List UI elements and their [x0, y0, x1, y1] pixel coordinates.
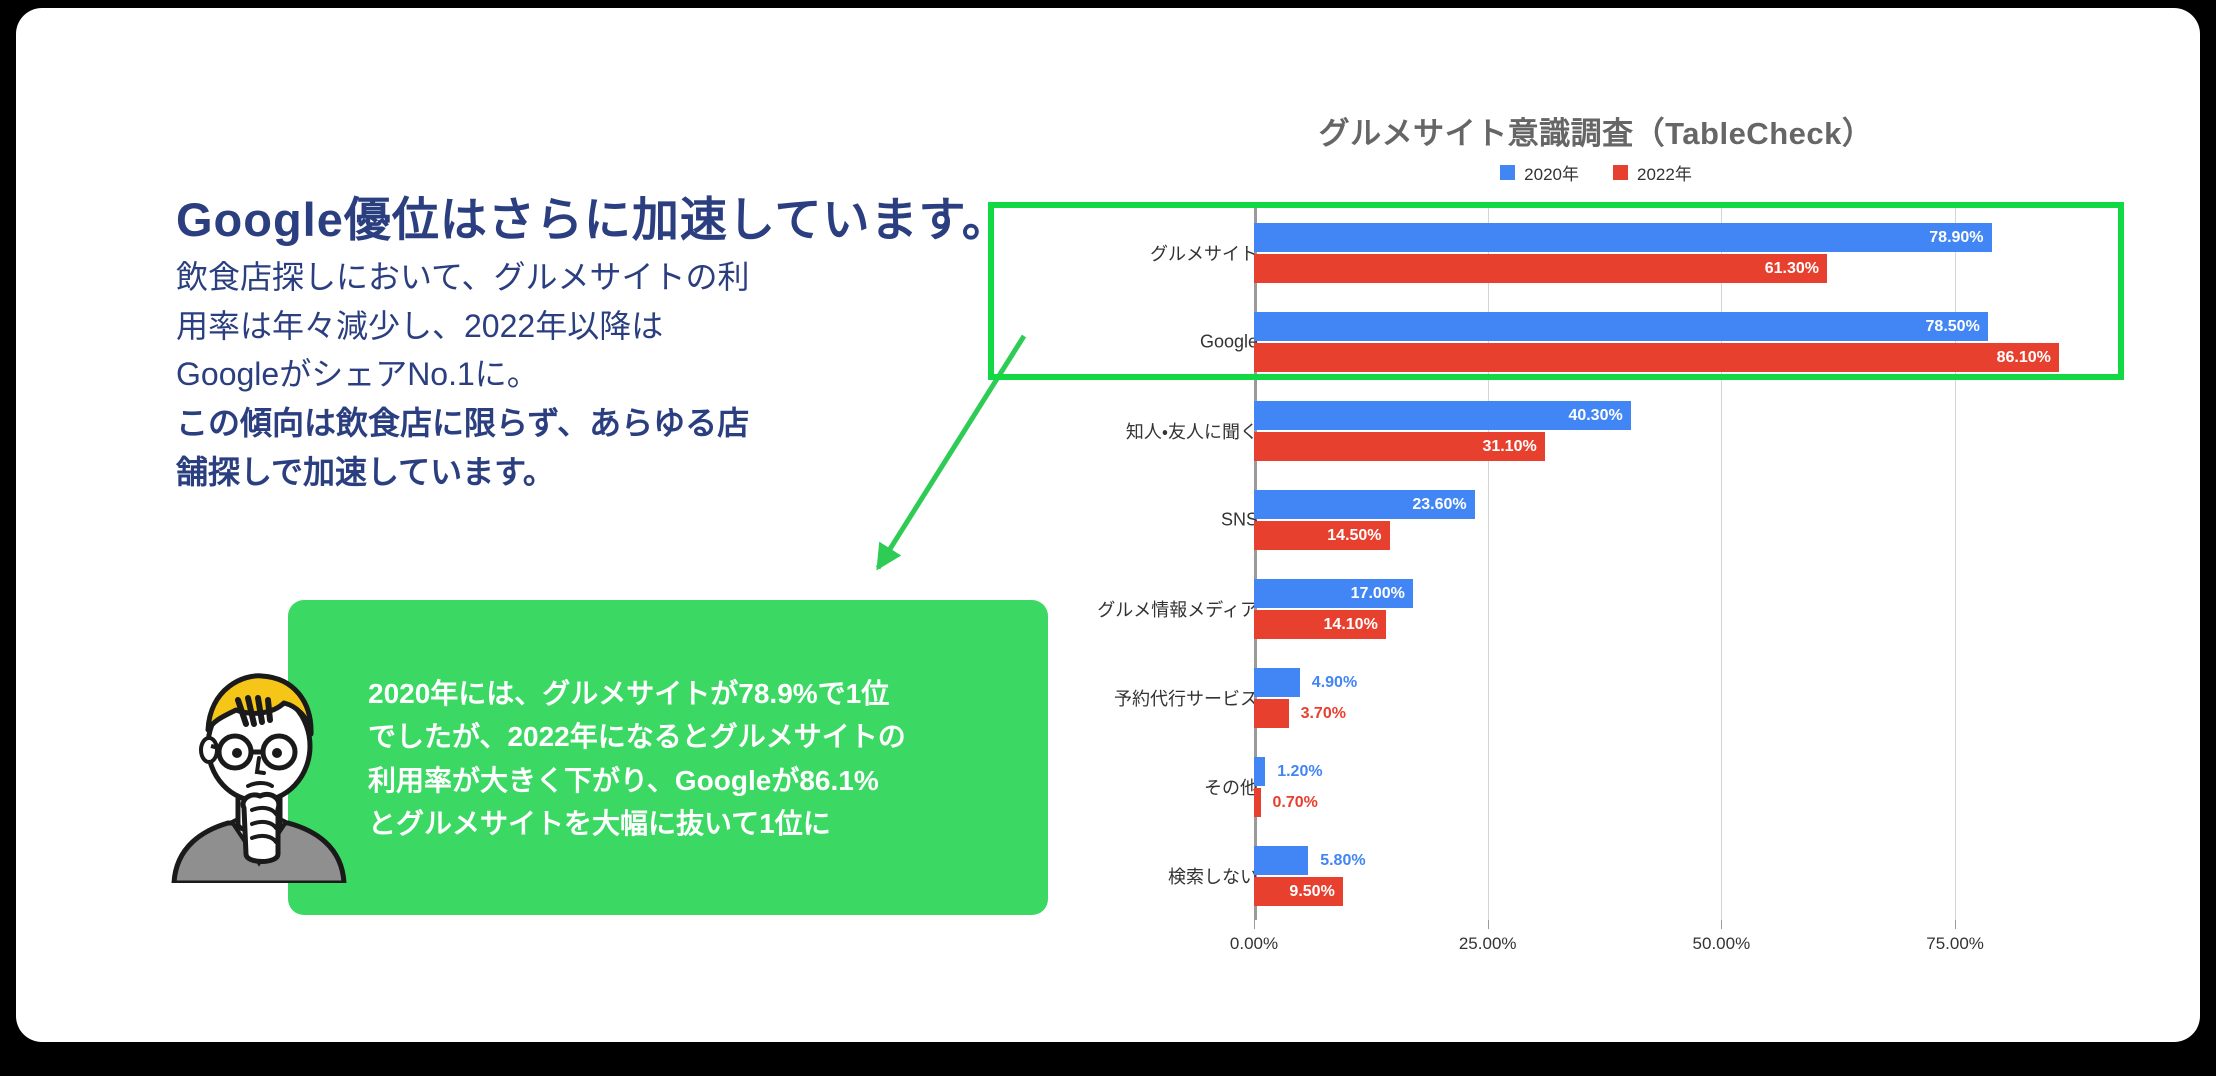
category-label: グルメ情報メディア	[1008, 596, 1258, 622]
x-tick-label: 0.00%	[1230, 934, 1278, 954]
category-label: 検索しない	[1008, 863, 1258, 889]
lead-line-1: 飲食店探しにおいて、グルメサイトの利	[176, 253, 896, 302]
lead-line-5: 舗探しで加速しています。	[176, 448, 896, 497]
legend-label-2022: 2022年	[1637, 160, 1692, 185]
bar-value-label: 31.10%	[1482, 432, 1536, 461]
legend-swatch-2020	[1500, 165, 1515, 180]
bar-value-label: 5.80%	[1320, 846, 1365, 875]
legend-item-2022[interactable]: 2022年	[1613, 160, 1692, 185]
bar-value-label: 78.90%	[1929, 223, 1983, 252]
arrow-line	[878, 336, 1024, 568]
bar-2020[interactable]	[1254, 312, 1988, 341]
slide-card: Google優位はさらに加速しています。 飲食店探しにおいて、グルメサイトの利 …	[16, 8, 2200, 1042]
bar-2020[interactable]	[1254, 668, 1300, 697]
callout-line-1: 2020年には、グルメサイトが78.9%で1位	[368, 672, 1028, 715]
category-label: グルメサイト	[1008, 240, 1258, 266]
lead-line-4: この傾向は飲食店に限らず、あらゆる店	[176, 399, 896, 448]
bar-value-label: 3.70%	[1301, 699, 1346, 728]
chart-title: グルメサイト意識調査（TableCheck）	[1036, 108, 2156, 153]
bar-value-label: 4.90%	[1312, 668, 1357, 697]
legend-item-2020[interactable]: 2020年	[1500, 160, 1579, 185]
bar-2022[interactable]	[1254, 343, 2059, 372]
tick-mark	[1721, 920, 1722, 929]
bar-value-label: 78.50%	[1926, 312, 1980, 341]
callout-text: 2020年には、グルメサイトが78.9%で1位 でしたが、2022年になるとグル…	[368, 672, 1028, 846]
bar-2020[interactable]	[1254, 846, 1308, 875]
bar-2022[interactable]	[1254, 699, 1289, 728]
callout-line-3: 利用率が大きく下がり、Googleが86.1%	[368, 759, 1028, 802]
category-label: 予約代行サービス	[1008, 685, 1258, 711]
category-label: Google	[1008, 331, 1258, 352]
tick-mark	[1955, 920, 1956, 929]
bar-value-label: 0.70%	[1273, 788, 1318, 817]
category-label: その他	[1008, 774, 1258, 800]
legend-label-2020: 2020年	[1524, 160, 1579, 185]
x-tick-label: 25.00%	[1459, 934, 1517, 954]
lead-line-2: 用率は年々減少し、2022年以降は	[176, 302, 896, 351]
bar-2022[interactable]	[1254, 254, 1827, 283]
x-tick-label: 50.00%	[1693, 934, 1751, 954]
bar-2022[interactable]	[1254, 788, 1261, 817]
chart-legend: 2020年 2022年	[1036, 160, 2156, 185]
category-label: 知人・友人に聞く	[1008, 418, 1258, 444]
legend-swatch-2022	[1613, 165, 1628, 180]
bar-value-label: 40.30%	[1568, 401, 1622, 430]
callout-line-4: とグルメサイトを大幅に抜いて1位に	[368, 802, 1028, 845]
lead-line-3: GoogleがシェアNo.1に。	[176, 350, 896, 399]
bar-2020[interactable]	[1254, 223, 1992, 252]
chart-plot-area: 0.00%25.00%50.00%75.00% グルメサイトGoogle知人・友…	[1036, 208, 2156, 948]
thinking-person-illustration	[166, 658, 351, 883]
category-label: SNS	[1008, 509, 1258, 530]
tick-mark	[1488, 920, 1489, 929]
bar-value-label: 17.00%	[1351, 579, 1405, 608]
bar-value-label: 9.50%	[1289, 877, 1334, 906]
lead-paragraph: 飲食店探しにおいて、グルメサイトの利 用率は年々減少し、2022年以降は Goo…	[176, 253, 896, 496]
callout-box: 2020年には、グルメサイトが78.9%で1位 でしたが、2022年になるとグル…	[288, 600, 1048, 915]
bar-value-label: 1.20%	[1277, 757, 1322, 786]
bar-value-label: 23.60%	[1412, 490, 1466, 519]
page-title: Google優位はさらに加速しています。	[176, 181, 1136, 250]
bar-value-label: 14.10%	[1324, 610, 1378, 639]
bar-value-label: 14.50%	[1327, 521, 1381, 550]
callout-line-2: でしたが、2022年になるとグルメサイトの	[368, 715, 1028, 758]
bar-2020[interactable]	[1254, 757, 1265, 786]
bar-value-label: 61.30%	[1765, 254, 1819, 283]
x-tick-label: 75.00%	[1926, 934, 1984, 954]
tick-mark	[1254, 920, 1255, 929]
bar-value-label: 86.10%	[1997, 343, 2051, 372]
survey-bar-chart: グルメサイト意識調査（TableCheck） 2020年 2022年 0.00%…	[1036, 60, 2156, 1010]
